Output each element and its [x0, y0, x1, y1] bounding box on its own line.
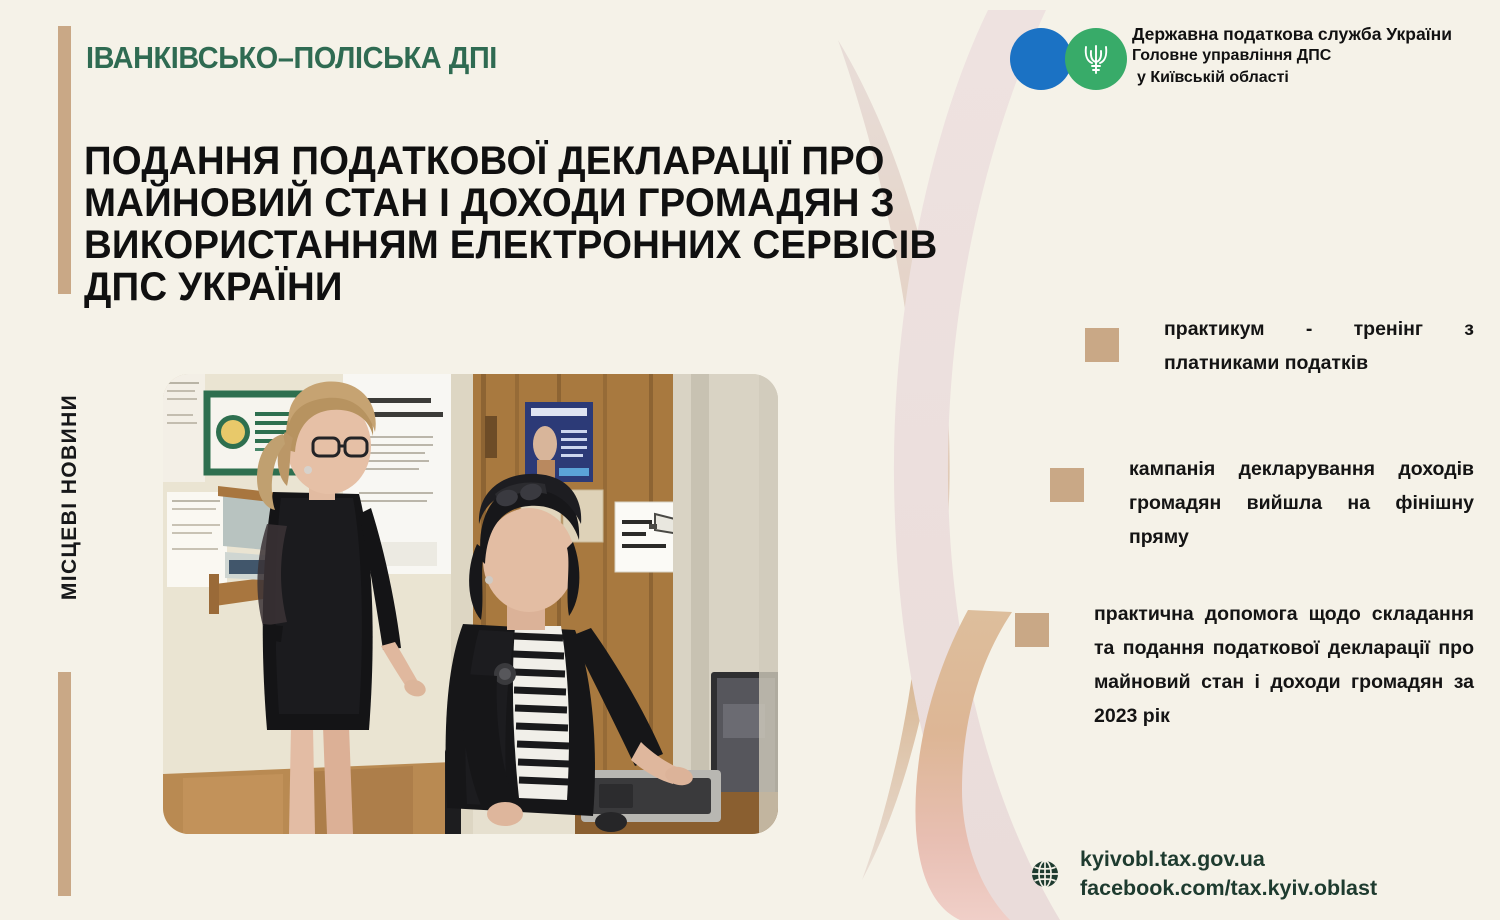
left-accent-bar-top — [58, 26, 71, 294]
footer-contacts: kyivobl.tax.gov.ua facebook.com/tax.kyiv… — [1030, 845, 1377, 903]
list-item: кампанія декларування доходів громадян в… — [1050, 452, 1474, 554]
bullet-square-icon — [1085, 328, 1119, 362]
list-item: практична допомога щодо складання та под… — [1015, 597, 1474, 733]
logo-line-2: Головне управління ДПС — [1132, 45, 1482, 67]
swoosh-lower — [915, 610, 1012, 920]
side-label-local-news: МІСЦЕВІ НОВИНИ — [58, 367, 82, 627]
bullet-text: кампанія декларування доходів громадян в… — [1129, 452, 1474, 554]
website-link[interactable]: kyivobl.tax.gov.ua — [1080, 845, 1377, 874]
page-title: ПОДАННЯ ПОДАТКОВОЇ ДЕКЛАРАЦІЇ ПРО МАЙНОВ… — [84, 140, 910, 308]
swoosh-outer — [894, 10, 1060, 920]
poster-canvas: МІСЦЕВІ НОВИНИ ІВАНКІВСЬКО–ПОЛІСЬКА ДПІ … — [0, 0, 1500, 920]
facebook-link[interactable]: facebook.com/tax.kyiv.oblast — [1080, 874, 1377, 903]
news-photo-illustration — [163, 374, 778, 834]
dps-logo-block: Державна податкова служба України Головн… — [1010, 24, 1480, 116]
logo-text: Державна податкова служба України Головн… — [1132, 24, 1482, 89]
headline-line-4: ДПС УКРАЇНИ — [84, 266, 910, 308]
news-photo — [163, 374, 778, 834]
bullet-square-icon — [1050, 468, 1084, 502]
bullet-text: практична допомога щодо складання та под… — [1094, 597, 1474, 733]
logo-line-1: Державна податкова служба України — [1132, 24, 1482, 45]
logo-circles — [1010, 24, 1128, 90]
footer-links: kyivobl.tax.gov.ua facebook.com/tax.kyiv… — [1080, 845, 1377, 903]
trident-icon — [1082, 42, 1110, 76]
bullet-square-icon — [1015, 613, 1049, 647]
headline-line-1: ПОДАННЯ ПОДАТКОВОЇ ДЕКЛАРАЦІЇ ПРО — [84, 140, 910, 182]
headline-line-2: МАЙНОВИЙ СТАН І ДОХОДИ ГРОМАДЯН З — [84, 182, 910, 224]
list-item: практикум - тренінг з платниками податкі… — [1085, 312, 1474, 380]
left-accent-bar-bottom — [58, 672, 71, 896]
logo-line-3: у Київській області — [1132, 67, 1482, 89]
circle-blue-icon — [1010, 28, 1072, 90]
bullet-text: практикум - тренінг з платниками податкі… — [1164, 312, 1474, 380]
headline-line-3: ВИКОРИСТАННЯМ ЕЛЕКТРОННИХ СЕРВІСІВ — [84, 224, 910, 266]
office-name-kicker: ІВАНКІВСЬКО–ПОЛІСЬКА ДПІ — [86, 40, 497, 76]
globe-icon — [1030, 859, 1060, 889]
